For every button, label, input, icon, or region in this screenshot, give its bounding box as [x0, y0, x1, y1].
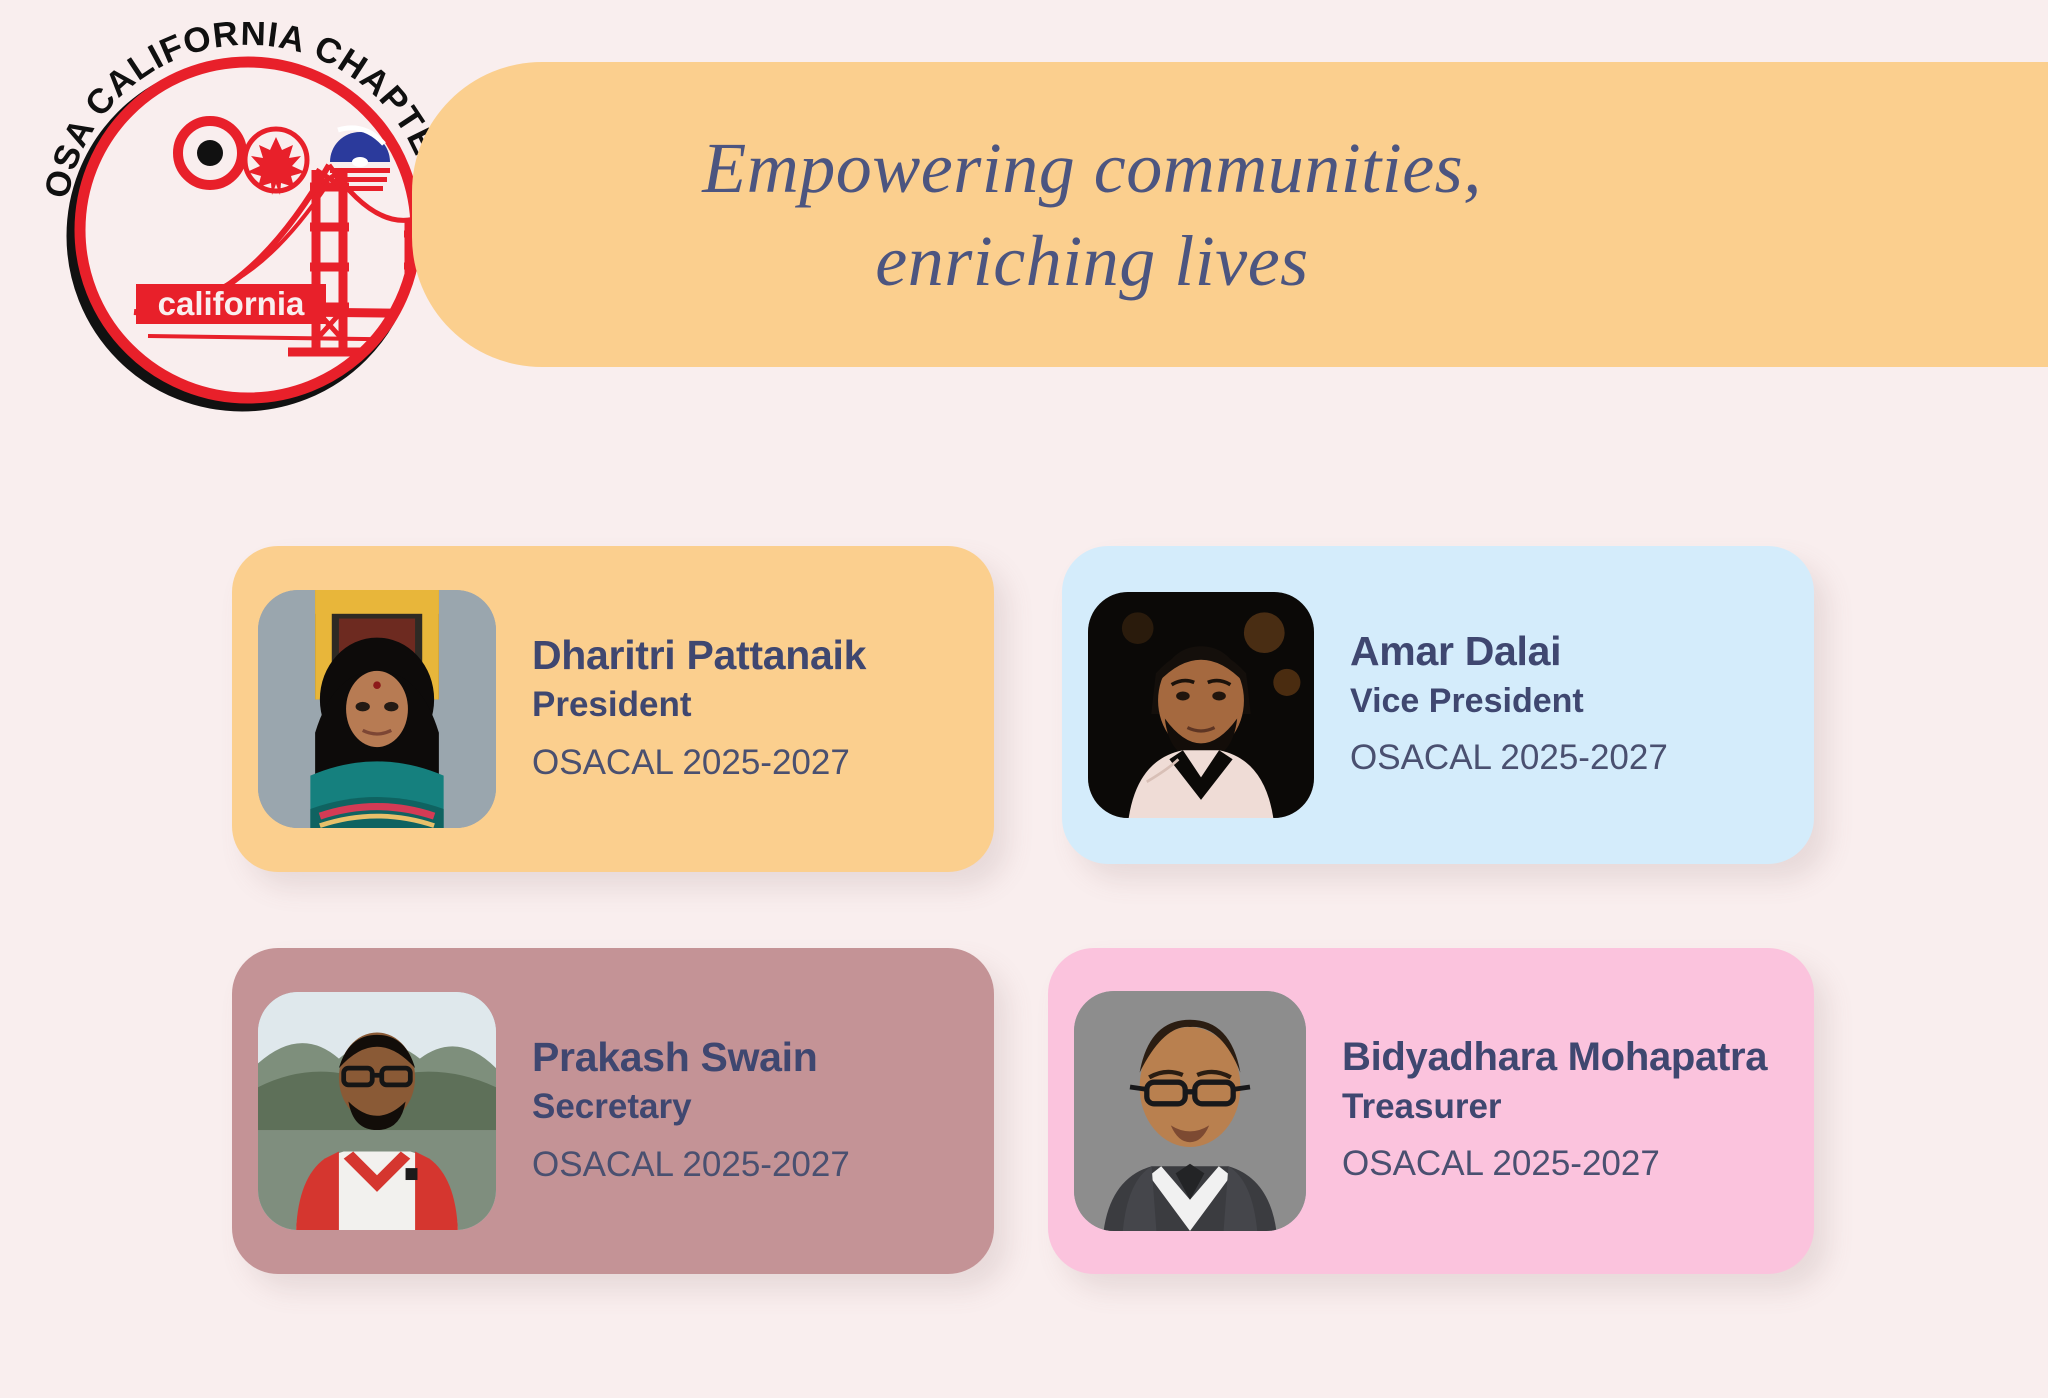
photo-dharitri-pattanaik — [258, 590, 496, 828]
officer-card-secretary[interactable]: Prakash Swain Secretary OSACAL 2025-2027 — [232, 948, 994, 1274]
california-banner: california — [136, 284, 326, 324]
california-banner-label: california — [158, 285, 305, 322]
officer-name: Amar Dalai — [1350, 629, 1668, 675]
tagline-banner: Empowering communities, enriching lives — [412, 62, 2048, 367]
officer-role: Treasurer — [1342, 1084, 1767, 1130]
officer-meta: Prakash Swain Secretary OSACAL 2025-2027 — [532, 1035, 850, 1188]
tagline-text: Empowering communities, enriching lives — [582, 122, 1602, 306]
logo-artwork: OSA CALIFORNIA CHAPTER — [38, 22, 458, 412]
photo-bidyadhara-mohapatra — [1074, 991, 1306, 1231]
officer-name: Prakash Swain — [532, 1035, 850, 1081]
photo-prakash-swain — [258, 992, 496, 1230]
officer-card-treasurer[interactable]: Bidyadhara Mohapatra Treasurer OSACAL 20… — [1048, 948, 1814, 1274]
officer-tenure: OSACAL 2025-2027 — [532, 740, 866, 786]
canada-roundel-icon — [245, 129, 307, 195]
officer-card-vice-president[interactable]: Amar Dalai Vice President OSACAL 2025-20… — [1062, 546, 1814, 864]
officer-role: Vice President — [1350, 679, 1668, 723]
officer-tenure: OSACAL 2025-2027 — [1342, 1141, 1767, 1187]
officer-meta: Amar Dalai Vice President OSACAL 2025-20… — [1350, 629, 1668, 781]
officer-tenure: OSACAL 2025-2027 — [532, 1142, 850, 1188]
india-roundel-icon — [178, 121, 242, 185]
osa-california-chapter-logo: OSA CALIFORNIA CHAPTER — [38, 22, 458, 412]
officer-meta: Dharitri Pattanaik President OSACAL 2025… — [532, 633, 866, 786]
photo-amar-dalai — [1088, 592, 1314, 818]
officer-tenure: OSACAL 2025-2027 — [1350, 735, 1668, 781]
officer-meta: Bidyadhara Mohapatra Treasurer OSACAL 20… — [1342, 1035, 1767, 1187]
tagline-line-2: enriching lives — [875, 221, 1308, 301]
officer-role: Secretary — [532, 1084, 850, 1130]
officer-name: Bidyadhara Mohapatra — [1342, 1035, 1767, 1080]
tagline-line-1: Empowering communities, — [702, 128, 1481, 208]
logo-ring — [80, 62, 416, 398]
officer-card-president[interactable]: Dharitri Pattanaik President OSACAL 2025… — [232, 546, 994, 872]
officer-role: President — [532, 682, 866, 728]
officer-name: Dharitri Pattanaik — [532, 633, 866, 679]
